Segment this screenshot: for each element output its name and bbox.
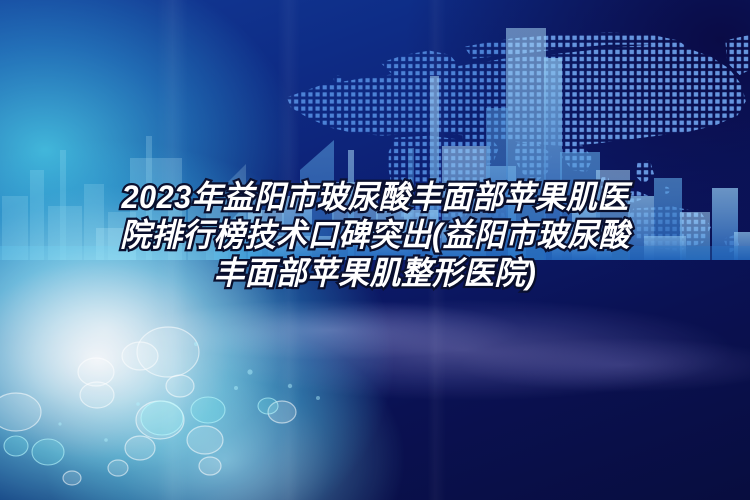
promo-banner: 2023年益阳市玻尿酸丰面部苹果肌医院排行榜技术口碑突出(益阳市玻尿酸丰面部苹果… — [0, 0, 750, 500]
page-title: 2023年益阳市玻尿酸丰面部苹果肌医院排行榜技术口碑突出(益阳市玻尿酸丰面部苹果… — [106, 178, 644, 292]
headline-container: 2023年益阳市玻尿酸丰面部苹果肌医院排行榜技术口碑突出(益阳市玻尿酸丰面部苹果… — [0, 178, 750, 292]
